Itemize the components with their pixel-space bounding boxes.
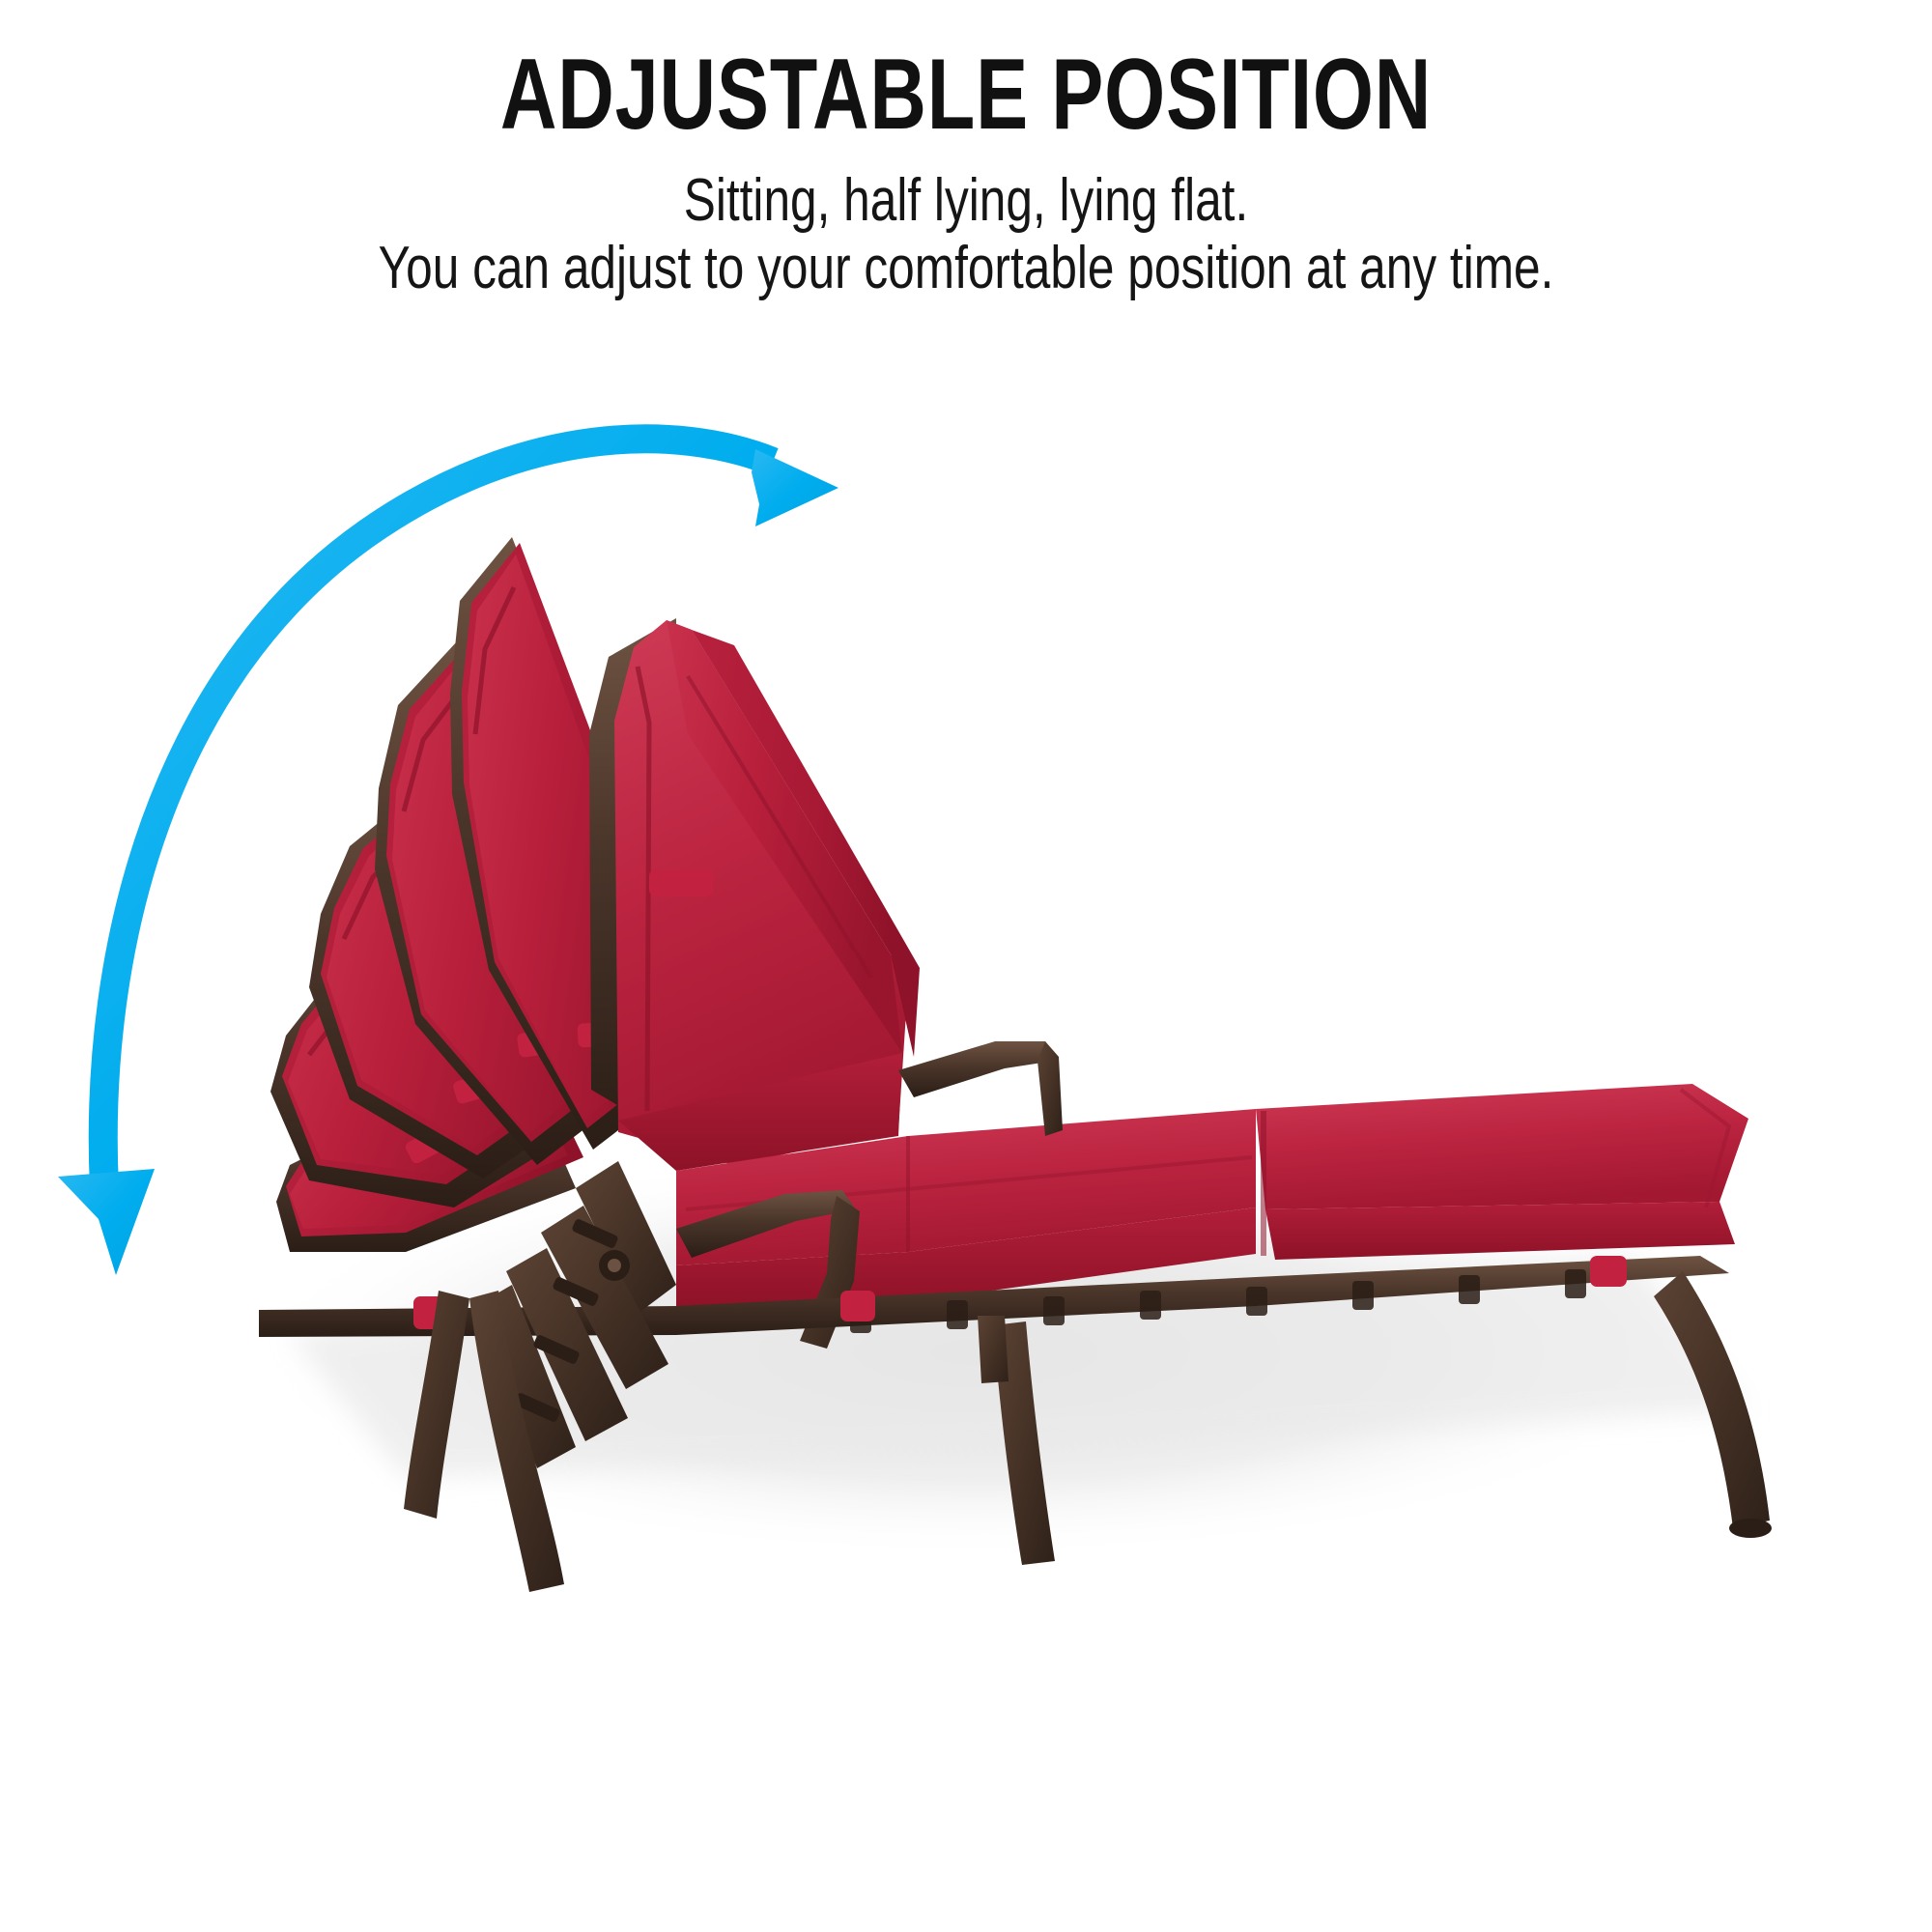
backrest-position-6-sitting	[589, 618, 920, 1171]
armrest-far	[898, 1041, 1063, 1136]
arrow-head-bottom	[58, 1169, 155, 1275]
product-illustration	[0, 0, 1932, 1932]
backrest-strap	[649, 869, 713, 896]
rail-strap-right	[1590, 1256, 1627, 1287]
leg-rest-cushion	[1256, 1084, 1748, 1260]
arrow-head-top	[752, 449, 838, 526]
seat-connector	[978, 1316, 1009, 1383]
rail-strap-mid	[840, 1291, 875, 1321]
product-feature-banner: ADJUSTABLE POSITION Sitting, half lying,…	[0, 0, 1932, 1932]
